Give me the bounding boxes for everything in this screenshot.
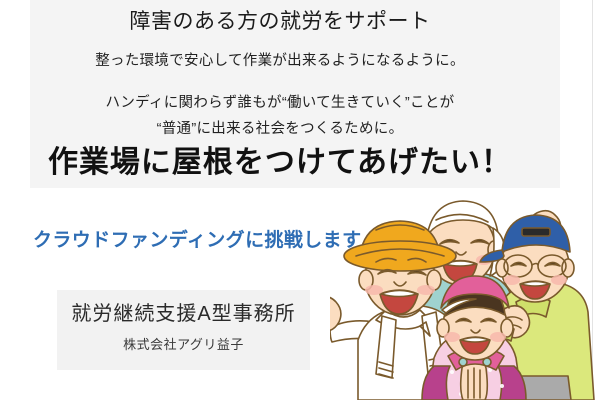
poster-canvas: 障害のある方の就労をサポート 整った環境で安心して作業が出来るようになるように。…	[0, 0, 600, 400]
subtitle-line-2a: ハンディに関わらず誰もが“働いて生きていく”ことが	[30, 90, 530, 116]
subtitle-line-1: 整った環境で安心して作業が出来るようになるように。	[30, 50, 530, 72]
main-message: 作業場に屋根をつけてあげたい！	[30, 143, 530, 183]
organization-corporate-name: 株式会社アグリ益子	[57, 336, 310, 354]
subtitle-block-2: ハンディに関わらず誰もが“働いて生きていく”ことが “普通”に出来る社会をつくる…	[30, 90, 530, 142]
organization-name: 就労継続支援A型事務所	[57, 300, 310, 328]
subtitle-line-2b: “普通”に出来る社会をつくるために。	[30, 116, 530, 142]
campaign-headline: クラウドファンディングに挑戦します	[33, 228, 361, 254]
four-smiling-people-illustration: .ol{fill:none;stroke:#7a5a2c;stroke-widt…	[330, 190, 600, 400]
page-title: 障害のある方の就労をサポート	[30, 7, 530, 37]
